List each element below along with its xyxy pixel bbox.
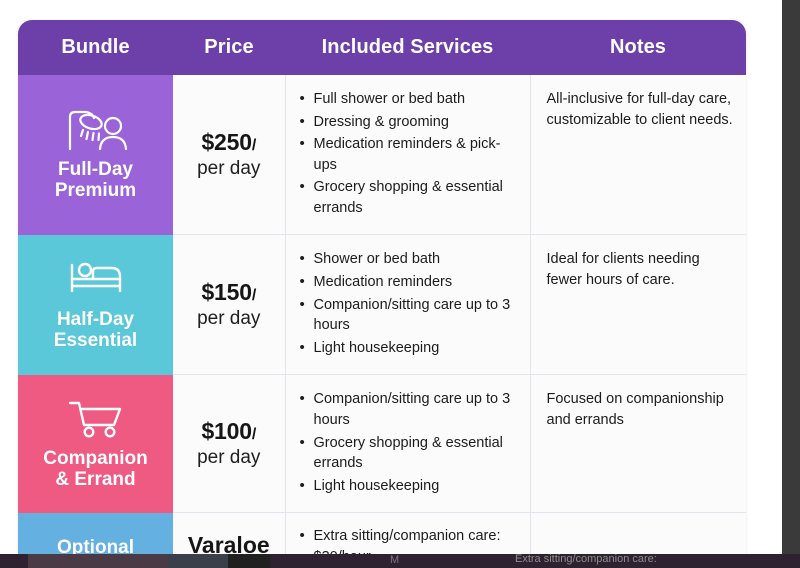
services-list: Full shower or bed bath Dressing & groom… (300, 89, 520, 218)
ghost-segment (0, 554, 28, 568)
note-text: Ideal for clients needing fewer hours of… (547, 249, 735, 291)
header-row: Bundle Price Included Services Notes (18, 20, 746, 75)
price-slash: / (252, 287, 256, 304)
notes-cell-full-day-premium: All-inclusive for full-day care, customi… (530, 75, 746, 235)
bundle-label-line2: & Errand (55, 469, 135, 490)
price-slash: / (252, 426, 256, 443)
list-item: Shower or bed bath (300, 249, 520, 270)
bundle-label-line1: Half-Day (57, 309, 134, 330)
services-cell-full-day-premium: Full shower or bed bath Dressing & groom… (285, 75, 530, 235)
bottom-overflow-strip: M Extra sitting/companion care: (0, 554, 800, 568)
services-list: Shower or bed bath Medication reminders … (300, 249, 520, 358)
table-row: Companion & Errand $100/ per day Compani… (18, 375, 746, 513)
right-gutter (782, 0, 800, 568)
ghost-segment (168, 554, 228, 568)
list-item: Grocery shopping & essential errands (300, 177, 520, 218)
list-item: Light housekeeping (300, 338, 520, 359)
ghost-segment (228, 554, 270, 568)
notes-cell-half-day-essential: Ideal for clients needing fewer hours of… (530, 235, 746, 375)
price-value: $100 (201, 418, 251, 444)
column-header-notes: Notes (530, 20, 746, 75)
pricing-table-card: Bundle Price Included Services Notes (18, 20, 746, 568)
services-cell-companion-errand: Companion/sitting care up to 3 hours Gro… (285, 375, 530, 513)
price-value: $250 (201, 129, 251, 155)
column-header-price: Price (173, 20, 285, 75)
bundle-label: Full-Day Premium (26, 159, 165, 202)
bed-person-icon (26, 257, 165, 303)
bundle-label-line1: Full-Day (58, 159, 133, 180)
list-item: Dressing & grooming (300, 112, 520, 133)
price-cell-full-day-premium: $250/ per day (173, 75, 285, 235)
price-amount: $150/ (179, 279, 279, 306)
price-period: per day (179, 157, 279, 181)
column-header-bundle: Bundle (18, 20, 173, 75)
list-item: Grocery shopping & essential errands (300, 433, 520, 474)
price-amount: $250/ (179, 129, 279, 156)
table-body: Full-Day Premium $250/ per day Full show… (18, 75, 746, 568)
price-slash: / (252, 137, 256, 154)
pricing-table: Bundle Price Included Services Notes (18, 20, 746, 568)
ghost-text-addons: Extra sitting/companion care: (515, 554, 657, 565)
notes-cell-companion-errand: Focused on companionship and errands (530, 375, 746, 513)
list-item: Medication reminders (300, 272, 520, 293)
ghost-segment (270, 554, 280, 568)
services-cell-half-day-essential: Shower or bed bath Medication reminders … (285, 235, 530, 375)
column-header-services: Included Services (285, 20, 530, 75)
table-header: Bundle Price Included Services Notes (18, 20, 746, 75)
price-cell-companion-errand: $100/ per day (173, 375, 285, 513)
list-item: Full shower or bed bath (300, 89, 520, 110)
bundle-label-line2: Premium (55, 180, 136, 201)
note-text: All-inclusive for full-day care, customi… (547, 89, 735, 131)
table-row: Full-Day Premium $250/ per day Full show… (18, 75, 746, 235)
bundle-label: Half-Day Essential (26, 309, 165, 352)
services-list: Companion/sitting care up to 3 hours Gro… (300, 389, 520, 496)
bundle-label: Companion & Errand (26, 448, 165, 491)
ghost-text-fragment: M (390, 554, 399, 566)
price-cell-half-day-essential: $150/ per day (173, 235, 285, 375)
list-item: Companion/sitting care up to 3 hours (300, 389, 520, 430)
shopping-cart-icon (26, 396, 165, 442)
ghost-segment (28, 554, 168, 568)
list-item: Medication reminders & pick-ups (300, 134, 520, 175)
table-row: Half-Day Essential $150/ per day Shower … (18, 235, 746, 375)
shower-person-icon (26, 107, 165, 153)
bundle-cell-half-day-essential: Half-Day Essential (18, 235, 173, 375)
price-value: $150 (201, 279, 251, 305)
bundle-cell-full-day-premium: Full-Day Premium (18, 75, 173, 235)
price-period: per day (179, 307, 279, 331)
bundle-label-line2: Essential (54, 330, 137, 351)
price-period: per day (179, 446, 279, 470)
note-text: Focused on companionship and errands (547, 389, 735, 431)
list-item: Companion/sitting care up to 3 hours (300, 295, 520, 336)
bundle-label-line1: Companion (43, 448, 148, 469)
bundle-cell-companion-errand: Companion & Errand (18, 375, 173, 513)
price-amount: $100/ (179, 418, 279, 445)
screenshot-root: Bundle Price Included Services Notes (0, 0, 800, 568)
list-item: Light housekeeping (300, 476, 520, 497)
